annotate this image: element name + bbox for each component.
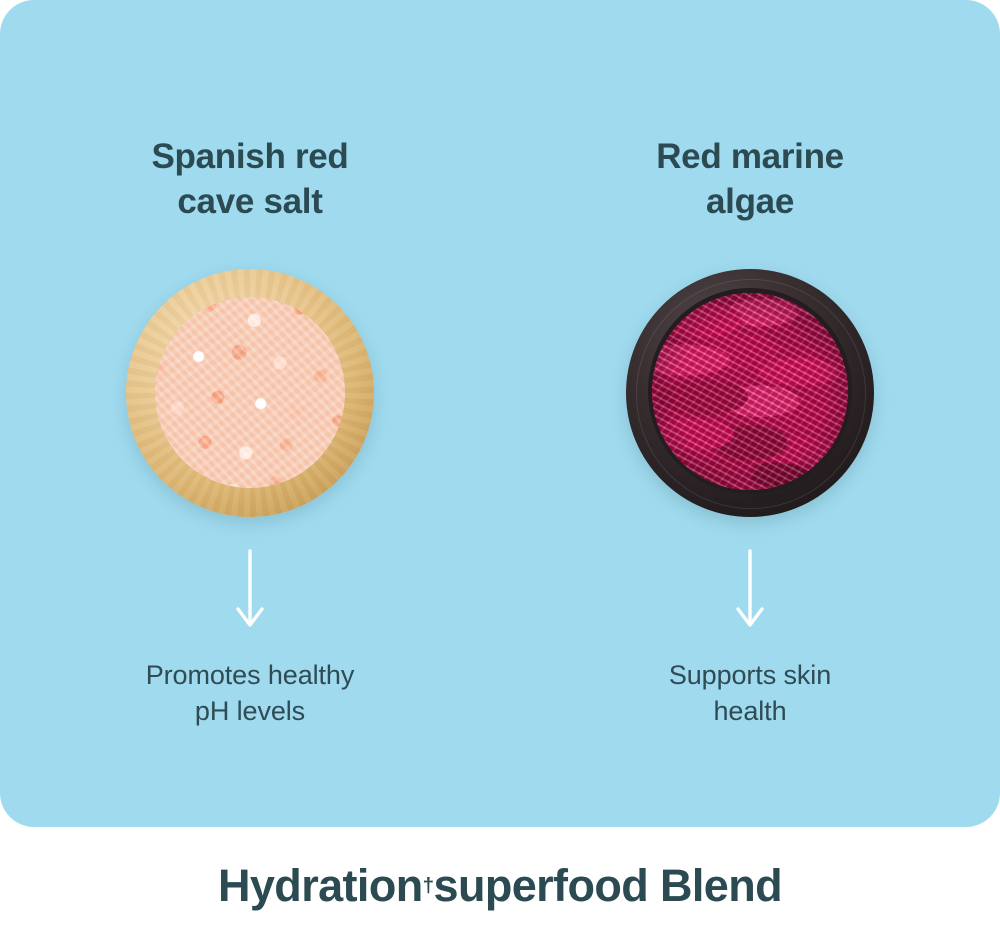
benefit-line-2: health — [595, 693, 905, 730]
arrow-down-icon — [733, 549, 767, 631]
ingredient-column-red-marine-algae: Red marine algae Supports skin health — [500, 0, 1000, 827]
benefit-line-2: pH levels — [95, 693, 405, 730]
arrow-down-icon — [233, 549, 267, 631]
benefit-line-1: Supports skin — [595, 657, 905, 694]
blend-title-rest: superfood Blend — [434, 860, 783, 912]
ingredient-column-spanish-red-cave-salt: Spanish red cave salt Promotes healthy p… — [0, 0, 500, 827]
ingredient-title-spanish-red-cave-salt: Spanish red cave salt — [100, 135, 400, 225]
ingredient-title-line-2: algae — [600, 180, 900, 225]
ingredient-image-red-marine-algae — [626, 269, 874, 517]
wooden-bowl — [126, 269, 374, 517]
benefit-text-spanish-red-cave-salt: Promotes healthy pH levels — [95, 657, 405, 730]
blend-title-main: Hydration — [218, 860, 423, 912]
blend-title: Hydration† superfood Blend — [0, 827, 1000, 945]
ingredient-image-spanish-red-cave-salt — [126, 269, 374, 517]
dark-bowl-interior — [648, 288, 851, 494]
dark-bowl — [626, 269, 874, 517]
pink-salt-crystals — [155, 297, 346, 488]
ingredient-title-red-marine-algae: Red marine algae — [600, 135, 900, 225]
ingredient-columns: Spanish red cave salt Promotes healthy p… — [0, 0, 1000, 827]
ingredient-title-line-1: Spanish red — [100, 135, 400, 180]
benefit-text-red-marine-algae: Supports skin health — [595, 657, 905, 730]
red-algae-shreds — [652, 293, 847, 491]
ingredient-title-line-1: Red marine — [600, 135, 900, 180]
hero-panel: Spanish red cave salt Promotes healthy p… — [0, 0, 1000, 827]
wooden-bowl-interior — [155, 297, 346, 488]
ingredient-title-line-2: cave salt — [100, 180, 400, 225]
benefit-line-1: Promotes healthy — [95, 657, 405, 694]
